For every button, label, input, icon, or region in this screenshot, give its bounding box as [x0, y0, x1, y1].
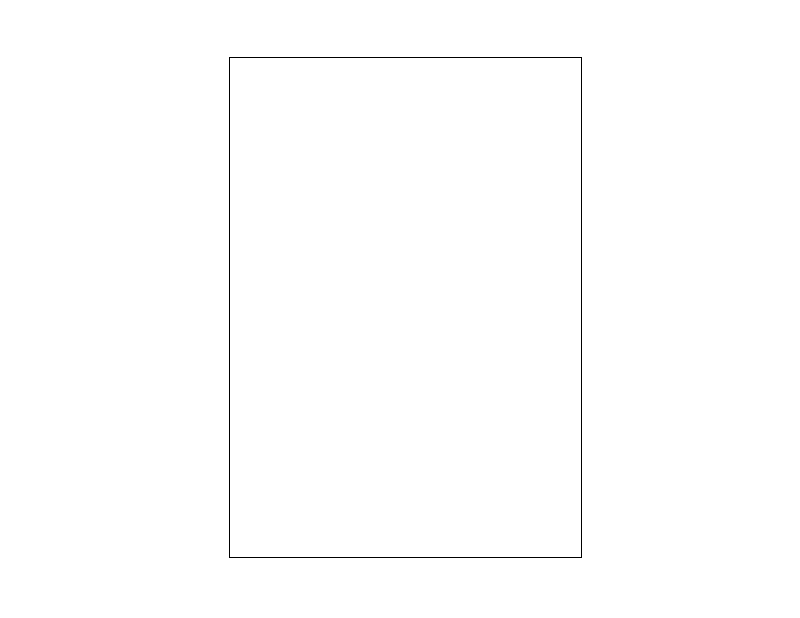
- colorbar: [675, 62, 696, 557]
- country-borders-overlay: [230, 58, 581, 557]
- latitude-axis-labels: [150, 57, 222, 556]
- longitude-axis-labels: [229, 563, 580, 583]
- longitude-tick-marks: [229, 551, 580, 559]
- map-plot-area: [229, 57, 582, 558]
- latitude-tick-marks: [229, 57, 237, 556]
- grads-plot-page: [0, 0, 800, 618]
